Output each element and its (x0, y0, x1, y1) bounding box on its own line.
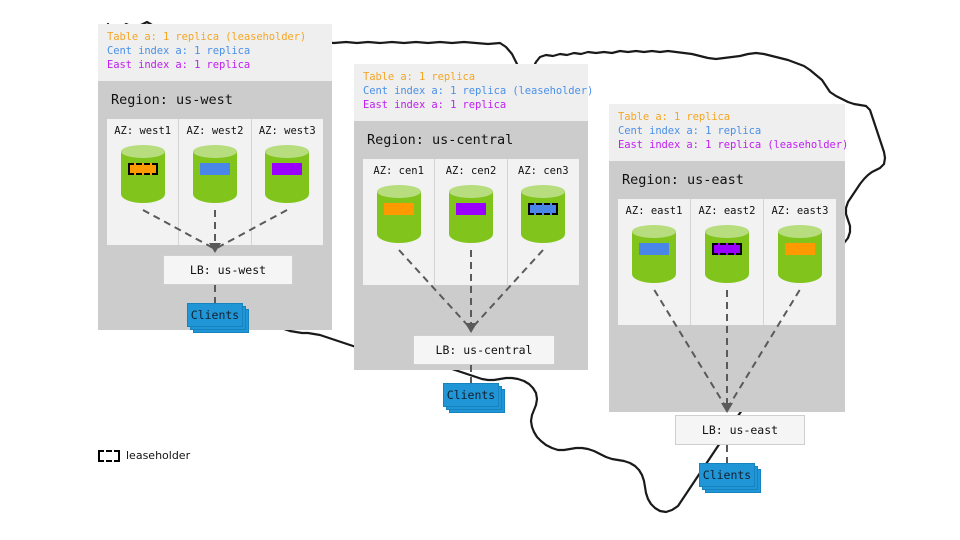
region-panel-us-central: Table a: 1 replicaCent index a: 1 replic… (354, 64, 588, 370)
az-label: AZ: west1 (114, 125, 171, 137)
cylinder-body (632, 231, 676, 283)
diagram-canvas: Table a: 1 replica (leaseholder)Cent ind… (0, 0, 960, 540)
replica-bar-purple (272, 163, 302, 175)
region-title-us-east: Region: us-east (609, 161, 845, 199)
leaseholder-swatch-icon (98, 450, 120, 462)
az-cell-west3[interactable]: AZ: west3 (252, 119, 323, 245)
az-label: AZ: cen1 (373, 165, 424, 177)
az-cell-east3[interactable]: AZ: east3 (764, 199, 836, 325)
cylinder-top (121, 145, 165, 158)
cylinder-body (121, 151, 165, 203)
az-label: AZ: cen3 (518, 165, 569, 177)
replica-bar-orange-leaseholder (128, 163, 158, 175)
cylinder-top (265, 145, 309, 158)
load-balancer-us-west[interactable]: LB: us-west (163, 255, 293, 285)
cylinder-top (705, 225, 749, 238)
cylinder-body (521, 191, 565, 243)
cylinder-top (778, 225, 822, 238)
az-label: AZ: west3 (259, 125, 316, 137)
az-label: AZ: cen2 (446, 165, 497, 177)
clients-stack-us-central[interactable]: Clients (443, 383, 505, 411)
region-summary-us-east: Table a: 1 replicaCent index a: 1 replic… (609, 104, 845, 161)
az-row-us-west: AZ: west1AZ: west2AZ: west3 (107, 119, 323, 245)
database-node-cylinder-icon[interactable] (449, 185, 493, 249)
cylinder-top (632, 225, 676, 238)
region-title-us-west: Region: us-west (98, 81, 332, 119)
cylinder-top (449, 185, 493, 198)
cylinder-body (193, 151, 237, 203)
summary-line-table_a: Table a: 1 replica (leaseholder) (107, 31, 323, 45)
database-node-cylinder-icon[interactable] (193, 145, 237, 209)
az-cell-cen3[interactable]: AZ: cen3 (508, 159, 579, 285)
summary-line-east_index: East index a: 1 replica (107, 59, 323, 73)
summary-line-east_index: East index a: 1 replica (363, 99, 579, 113)
summary-line-table_a: Table a: 1 replica (363, 71, 579, 85)
region-summary-us-west: Table a: 1 replica (leaseholder)Cent ind… (98, 24, 332, 81)
cylinder-body (377, 191, 421, 243)
az-cell-east1[interactable]: AZ: east1 (618, 199, 691, 325)
replica-bar-orange (384, 203, 414, 215)
cylinder-top (377, 185, 421, 198)
database-node-cylinder-icon[interactable] (778, 225, 822, 289)
az-label: AZ: east2 (699, 205, 756, 217)
cylinder-body (449, 191, 493, 243)
az-label: AZ: east1 (626, 205, 683, 217)
clients-label: Clients (443, 383, 499, 407)
replica-bar-purple-leaseholder (712, 243, 742, 255)
database-node-cylinder-icon[interactable] (121, 145, 165, 209)
cylinder-body (705, 231, 749, 283)
az-label: AZ: east3 (772, 205, 829, 217)
summary-line-cent_index: Cent index a: 1 replica (107, 45, 323, 59)
az-row-us-central: AZ: cen1AZ: cen2AZ: cen3 (363, 159, 579, 285)
load-balancer-us-east[interactable]: LB: us-east (675, 415, 805, 445)
az-label: AZ: west2 (187, 125, 244, 137)
cylinder-body (265, 151, 309, 203)
replica-bar-blue (639, 243, 669, 255)
clients-stack-us-west[interactable]: Clients (187, 303, 249, 331)
az-cell-cen1[interactable]: AZ: cen1 (363, 159, 435, 285)
clients-label: Clients (699, 463, 755, 487)
replica-bar-blue-leaseholder (528, 203, 558, 215)
replica-bar-orange (785, 243, 815, 255)
cylinder-top (521, 185, 565, 198)
legend: leaseholder (98, 449, 190, 462)
clients-stack-us-east[interactable]: Clients (699, 463, 761, 491)
az-cell-cen2[interactable]: AZ: cen2 (435, 159, 507, 285)
load-balancer-us-central[interactable]: LB: us-central (413, 335, 555, 365)
az-cell-east2[interactable]: AZ: east2 (691, 199, 764, 325)
legend-label: leaseholder (126, 449, 190, 462)
az-cell-west1[interactable]: AZ: west1 (107, 119, 179, 245)
summary-line-cent_index: Cent index a: 1 replica (618, 125, 836, 139)
summary-line-cent_index: Cent index a: 1 replica (leaseholder) (363, 85, 579, 99)
region-summary-us-central: Table a: 1 replicaCent index a: 1 replic… (354, 64, 588, 121)
clients-label: Clients (187, 303, 243, 327)
database-node-cylinder-icon[interactable] (632, 225, 676, 289)
cylinder-top (193, 145, 237, 158)
summary-line-table_a: Table a: 1 replica (618, 111, 836, 125)
database-node-cylinder-icon[interactable] (521, 185, 565, 249)
region-title-us-central: Region: us-central (354, 121, 588, 159)
region-panel-us-east: Table a: 1 replicaCent index a: 1 replic… (609, 104, 845, 412)
summary-line-east_index: East index a: 1 replica (leaseholder) (618, 139, 836, 153)
replica-bar-blue (200, 163, 230, 175)
database-node-cylinder-icon[interactable] (377, 185, 421, 249)
database-node-cylinder-icon[interactable] (265, 145, 309, 209)
database-node-cylinder-icon[interactable] (705, 225, 749, 289)
az-cell-west2[interactable]: AZ: west2 (179, 119, 251, 245)
cylinder-body (778, 231, 822, 283)
az-row-us-east: AZ: east1AZ: east2AZ: east3 (618, 199, 836, 325)
replica-bar-purple (456, 203, 486, 215)
